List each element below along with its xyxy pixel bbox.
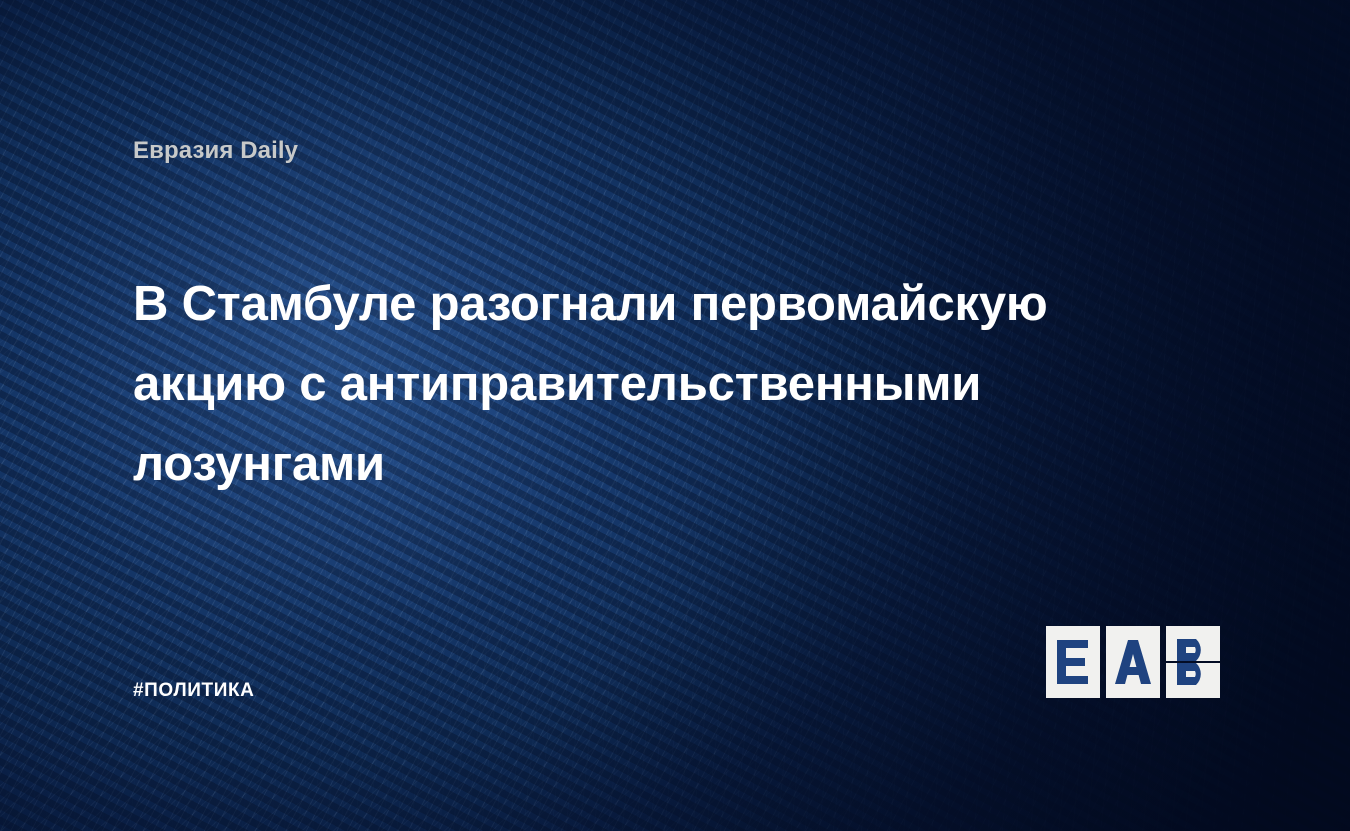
category-hashtag: #ПОЛИТИКА — [133, 680, 255, 702]
eadaily-logo — [1046, 626, 1220, 698]
card-content: Евразия Daily В Стамбуле разогнали перво… — [0, 0, 1350, 831]
logo-tile-a — [1106, 626, 1160, 698]
letter-a-icon — [1115, 640, 1151, 684]
page-title: В Стамбуле разогнали первомайскую акцию … — [133, 264, 1193, 504]
logo-tile-d-split — [1166, 626, 1220, 698]
logo-tile-d-top — [1166, 626, 1220, 661]
logo-tile-e — [1046, 626, 1100, 698]
letter-d-bowl-icon — [1166, 663, 1220, 698]
site-brand-name: Евразия Daily — [133, 137, 298, 165]
news-card: Евразия Daily В Стамбуле разогнали перво… — [0, 0, 1350, 831]
letter-d-split-icon — [1166, 626, 1220, 661]
logo-tile-d-bottom — [1166, 663, 1220, 698]
letter-e-icon — [1057, 640, 1089, 684]
